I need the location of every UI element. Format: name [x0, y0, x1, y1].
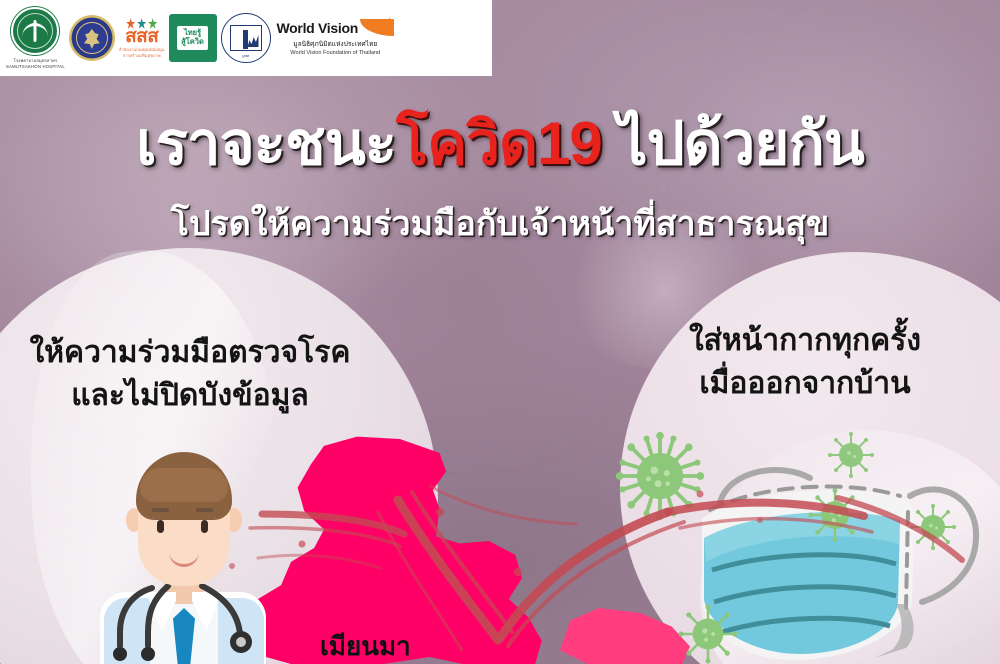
ministry-of-public-health-seal-icon: [11, 7, 59, 55]
coronavirus-particle: [908, 502, 958, 552]
covid-awareness-poster: เมียนมา ให้ความร่วมมือตรวจโรค และไม่ปิดบ…: [0, 0, 1000, 664]
message-right: ใส่หน้ากากทุกครั้ง เมื่อออกจากบ้าน: [610, 320, 1000, 405]
doctor-illustration: [88, 452, 278, 664]
coronavirus-particle: [676, 602, 740, 664]
coronavirus-particle: [826, 430, 876, 480]
world-vision-title: World Vision: [277, 21, 358, 35]
doctor-eyebrow-right: [196, 508, 213, 512]
doctor-eyebrow-left: [152, 508, 169, 512]
logo-thaihealth: สสส สำนักงานกองทุนสนับสนุน การสร้างเสริม…: [119, 0, 165, 76]
doctor-eye-left: [157, 520, 164, 533]
logo-royal-seal: [69, 0, 115, 76]
headline-part1: เราจะชนะ: [136, 110, 396, 177]
thaihealth-subtitle-line1: สำนักงานกองทุนสนับสนุน: [119, 47, 165, 52]
logo-world-vision: World Vision มูลนิธิศุภนิมิตแห่งประเทศไท…: [277, 0, 394, 76]
logo-moph-caption-th: โรงพยาบาลสมุทรสาคร: [6, 58, 65, 64]
doctor-hair-fringe: [140, 468, 228, 502]
wv-mark-caption: มูลนิธิ: [242, 55, 249, 58]
logo-thairoo-sukovid: ไทยรู้ สู้โควิด: [169, 0, 217, 76]
doctor-eye-right: [201, 520, 208, 533]
map-label-myanmar: เมียนมา: [320, 626, 411, 664]
thaihealth-subtitle-line2: การสร้างเสริมสุขภาพ: [119, 53, 165, 58]
message-right-line1: ใส่หน้ากากทุกครั้ง: [610, 320, 1000, 363]
message-left-line2: และไม่ปิดบังข้อมูล: [0, 375, 380, 418]
logo-moph-caption-en: SAMUTSAKHON HOSPITAL: [6, 64, 65, 70]
thairoo-sukovid-icon: ไทยรู้ สู้โควิด: [169, 14, 217, 62]
message-left: ให้ความร่วมมือตรวจโรค และไม่ปิดบังข้อมูล: [0, 332, 380, 417]
world-vision-subtitle-th: มูลนิธิศุภนิมิตแห่งประเทศไทย: [293, 38, 377, 49]
logo-moph-samutsakhon: โรงพยาบาลสมุทรสาคร SAMUTSAKHON HOSPITAL: [6, 0, 65, 76]
sponsor-logo-bar: โรงพยาบาลสมุทรสาคร SAMUTSAKHON HOSPITAL …: [0, 0, 492, 76]
headline-part2: ไปด้วยกัน: [602, 110, 864, 177]
stethoscope-icon: [106, 584, 262, 664]
poster-subheadline: โปรดให้ความร่วมมือกับเจ้าหน้าที่สาธารณสุ…: [0, 196, 1000, 250]
message-right-line2: เมื่อออกจากบ้าน: [610, 363, 1000, 406]
thairoo-line2: สู้โควิด: [181, 38, 204, 47]
headline-highlight: โควิด19: [396, 110, 602, 177]
coronavirus-particle: [612, 428, 708, 524]
logo-moph-caption: โรงพยาบาลสมุทรสาคร SAMUTSAKHON HOSPITAL: [6, 58, 65, 69]
royal-thai-seal-icon: [69, 15, 115, 61]
world-vision-foundation-mark-icon: มูลนิธิ: [221, 13, 271, 63]
thaihealth-subtitle: สำนักงานกองทุนสนับสนุน การสร้างเสริมสุขภ…: [119, 47, 165, 58]
coronavirus-particle: [806, 486, 864, 544]
world-vision-subtitle-en: World Vision Foundation of Thailand: [290, 50, 380, 56]
thaihealth-wordmark: สสส: [125, 27, 158, 46]
poster-headline: เราจะชนะโควิด19 ไปด้วยกัน: [0, 112, 1000, 175]
world-vision-swoosh-icon: [360, 19, 394, 36]
logo-wv-foundation-mark: มูลนิธิ: [221, 0, 271, 76]
message-left-line1: ให้ความร่วมมือตรวจโรค: [0, 332, 380, 375]
